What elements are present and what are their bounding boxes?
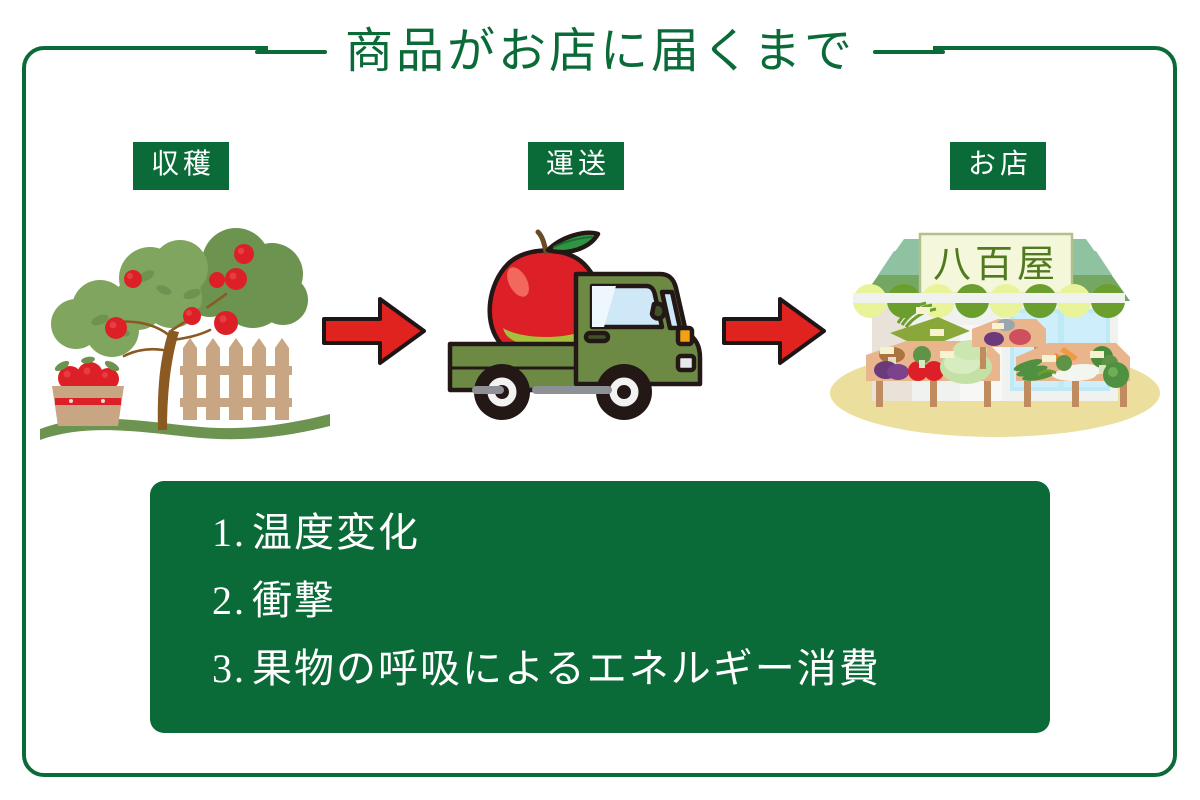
note-text: 衝撃	[252, 578, 336, 623]
risk-factors-box: 1.温度変化 2.衝撃 3.果物の呼吸によるエネルギー消費	[150, 481, 1050, 733]
note-number: 3.	[212, 646, 246, 691]
stage-label-shop: お店	[950, 142, 1046, 190]
illustration-delivery-truck	[440, 200, 730, 440]
shop-sign-text: 八百屋	[933, 244, 1059, 286]
arrow-transport-to-shop-icon	[718, 293, 830, 369]
note-text: 温度変化	[252, 510, 420, 555]
title-rule-right	[873, 50, 945, 54]
infographic-canvas: 商品がお店に届くまで 収穫 運送 お店	[0, 0, 1200, 800]
title-rule-left	[255, 50, 327, 54]
stage-label-transport: 運送	[528, 142, 624, 190]
note-item: 3.果物の呼吸によるエネルギー消費	[212, 649, 1050, 689]
page-title-row: 商品がお店に届くまで	[0, 16, 1200, 88]
note-number: 1.	[212, 510, 246, 555]
note-item: 1.温度変化	[212, 513, 1050, 553]
illustration-greengrocer-shop: 八百屋	[820, 205, 1170, 440]
illustration-apple-tree	[40, 190, 330, 440]
note-text: 果物の呼吸によるエネルギー消費	[252, 646, 881, 691]
stage-label-harvest: 収穫	[133, 142, 229, 190]
arrow-harvest-to-transport-icon	[318, 293, 430, 369]
page-title: 商品がお店に届くまで	[345, 28, 855, 76]
note-item: 2.衝撃	[212, 581, 1050, 621]
note-number: 2.	[212, 578, 246, 623]
